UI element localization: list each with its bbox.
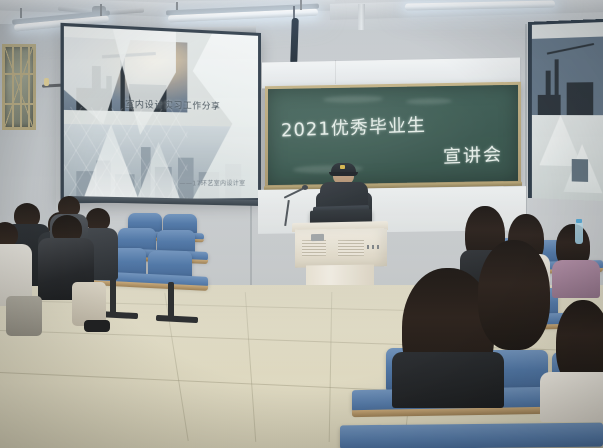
window: [2, 44, 36, 130]
slide-subtitle: ——17环艺室内设计室: [179, 178, 245, 187]
water-bottle[interactable]: [575, 222, 583, 244]
light-hanger: [300, 0, 302, 10]
lectern-buttons[interactable]: [367, 245, 379, 249]
blackboard-frame: 2021优秀毕业生 宣讲会: [265, 82, 521, 188]
window-bar: [20, 47, 22, 127]
slide-content: 室内设计实习工作分享 ——17环艺室内设计室: [64, 26, 258, 200]
window-bar: [28, 47, 30, 127]
window-bar: [5, 103, 33, 105]
student-torso: [540, 372, 603, 422]
blackboard-text-line1: 2021优秀毕业生: [280, 111, 425, 143]
student-shoe: [84, 320, 110, 332]
student-hair: [478, 240, 550, 350]
classroom-photo: 室内设计实习工作分享 ——17环艺室内设计室 2021优秀毕业生 宣讲会: [0, 0, 603, 448]
student-torso: [552, 260, 600, 298]
projector-screen-right[interactable]: [528, 19, 603, 202]
chalk-smudge: [323, 95, 383, 103]
window-bar: [12, 47, 14, 127]
banner-seam: [335, 60, 336, 84]
lectern-vent: [302, 240, 326, 256]
lectern-control-panel[interactable]: [311, 234, 324, 241]
slide-title: 室内设计实习工作分享: [125, 97, 220, 112]
microphone-head[interactable]: [302, 185, 308, 190]
projector-screen-left[interactable]: 室内设计实习工作分享 ——17环艺室内设计室: [61, 23, 261, 204]
presenter-cap-brim: [329, 172, 358, 176]
light-hanger: [20, 8, 22, 18]
blackboard-text-line2: 宣讲会: [443, 140, 504, 169]
water-bottle-cap: [576, 219, 582, 223]
blackboard[interactable]: 2021优秀毕业生 宣讲会: [268, 85, 518, 185]
desk-surface[interactable]: [340, 423, 603, 448]
seat-leg: [110, 278, 116, 316]
slide-image-construction-right: [532, 36, 603, 115]
silhouette-crane-arm: [547, 43, 594, 55]
light-hanger: [100, 4, 102, 16]
cap-logo: [340, 165, 345, 169]
lectern-vent: [338, 240, 364, 256]
student-torso: [392, 352, 504, 408]
silhouette-figure: [576, 90, 585, 109]
light-hanger: [176, 2, 178, 10]
slide-lower-band-right: [532, 115, 603, 201]
student-legs: [6, 296, 42, 336]
chalk-smudge: [406, 97, 452, 104]
silhouette-building: [538, 95, 561, 115]
slide-image-thumbnail: [571, 159, 588, 182]
wall-fixture-bulb: [44, 78, 49, 86]
seat-leg: [168, 282, 174, 320]
window-bar: [5, 73, 33, 75]
slide-shape-triangle-grid: [64, 106, 188, 200]
